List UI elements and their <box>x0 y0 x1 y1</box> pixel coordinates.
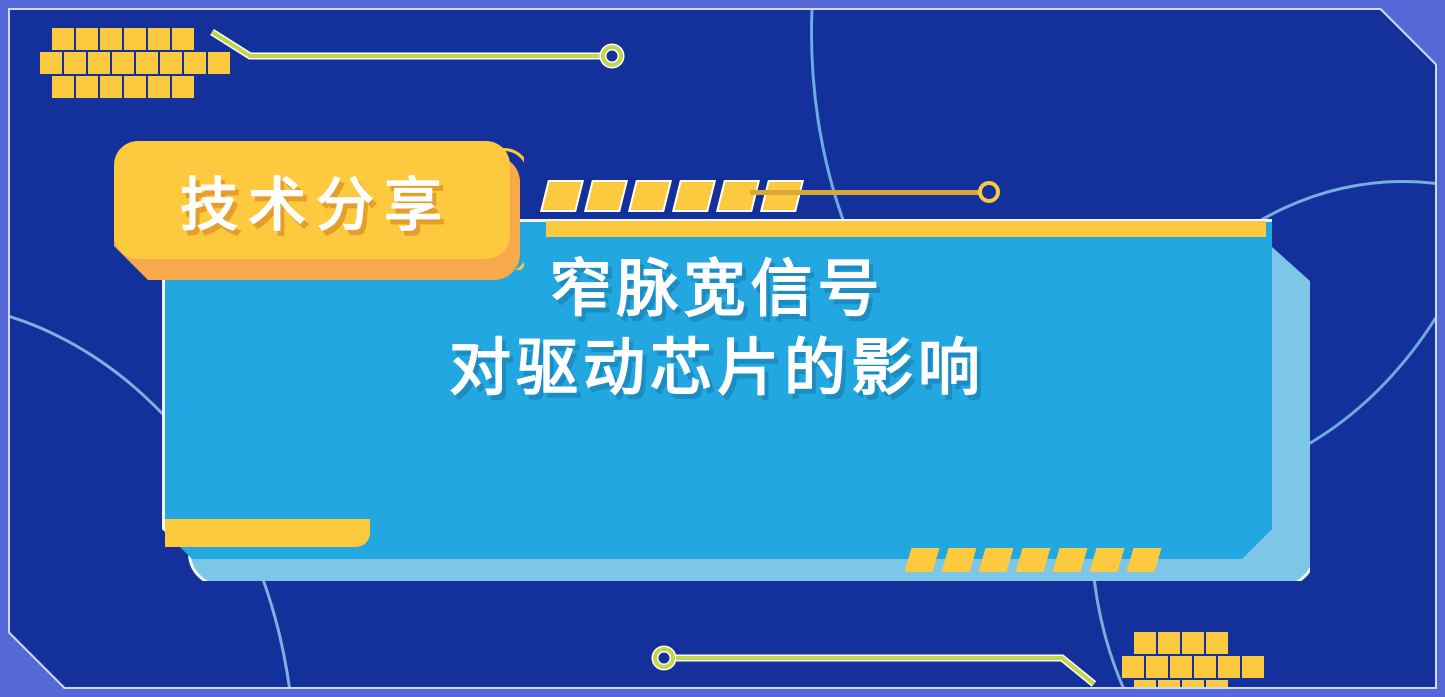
checker-cell <box>64 52 86 74</box>
dash-segment <box>1090 548 1125 572</box>
checker-cell <box>148 76 170 98</box>
checker-cell <box>124 28 146 50</box>
checker-cell <box>172 28 194 50</box>
checker-cell <box>136 52 158 74</box>
dash-segment <box>905 548 940 572</box>
circuit-line-bottom <box>650 640 1110 687</box>
checker-cell <box>1182 632 1204 654</box>
checker-cell <box>100 76 122 98</box>
checker-cell <box>172 76 194 98</box>
dash-segment <box>979 548 1014 572</box>
checker-cell <box>1206 680 1228 687</box>
checker-cell <box>1182 680 1204 687</box>
card-bottom-accent-bar <box>165 519 370 547</box>
card-top-accent-bar <box>546 221 1266 237</box>
checker-cell <box>148 28 170 50</box>
circle-endpoint-icon <box>978 181 1000 203</box>
dash-segment <box>760 180 804 212</box>
checker-cell <box>1242 656 1264 678</box>
checker-cell <box>124 76 146 98</box>
checker-cell <box>208 52 230 74</box>
checkerboard-top-left <box>40 28 210 96</box>
checker-cell <box>52 28 74 50</box>
checker-cell <box>1134 680 1156 687</box>
poster-panel: 窄脉宽信号 对驱动芯片的影响 技术分享 <box>10 10 1435 687</box>
dash-segment <box>628 180 672 212</box>
checker-cell <box>40 52 62 74</box>
checker-cell <box>100 28 122 50</box>
checker-cell <box>1206 632 1228 654</box>
dash-segment <box>716 180 760 212</box>
circuit-line-top <box>200 26 640 74</box>
headline-line-2: 对驱动芯片的影响 <box>162 329 1272 408</box>
checker-cell <box>112 52 134 74</box>
card-bottom-dashes <box>908 548 1158 572</box>
dash-segment <box>1016 548 1051 572</box>
dash-segment <box>540 180 584 212</box>
checker-cell <box>76 28 98 50</box>
poster-canvas: 窄脉宽信号 对驱动芯片的影响 技术分享 <box>0 0 1445 697</box>
checker-cell <box>1134 632 1156 654</box>
dash-segment <box>584 180 628 212</box>
dash-segment <box>672 180 716 212</box>
checker-cell <box>52 76 74 98</box>
checker-cell <box>88 52 110 74</box>
badge-label: 技术分享 <box>172 158 452 242</box>
checker-cell <box>1122 656 1144 678</box>
dash-segment <box>1053 548 1088 572</box>
checker-cell <box>1218 656 1240 678</box>
checker-cell <box>1146 656 1168 678</box>
checker-cell <box>1170 656 1192 678</box>
checkerboard-bottom-right <box>1122 632 1252 687</box>
dash-segment <box>942 548 977 572</box>
checker-cell <box>184 52 206 74</box>
checker-cell <box>160 52 182 74</box>
top-connector-line <box>750 190 982 195</box>
top-dashes <box>544 180 800 212</box>
checker-cell <box>1158 680 1180 687</box>
checker-cell <box>1194 656 1216 678</box>
checker-cell <box>76 76 98 98</box>
badge: 技术分享 <box>114 141 510 259</box>
dash-segment <box>1127 548 1162 572</box>
checker-cell <box>1158 632 1180 654</box>
